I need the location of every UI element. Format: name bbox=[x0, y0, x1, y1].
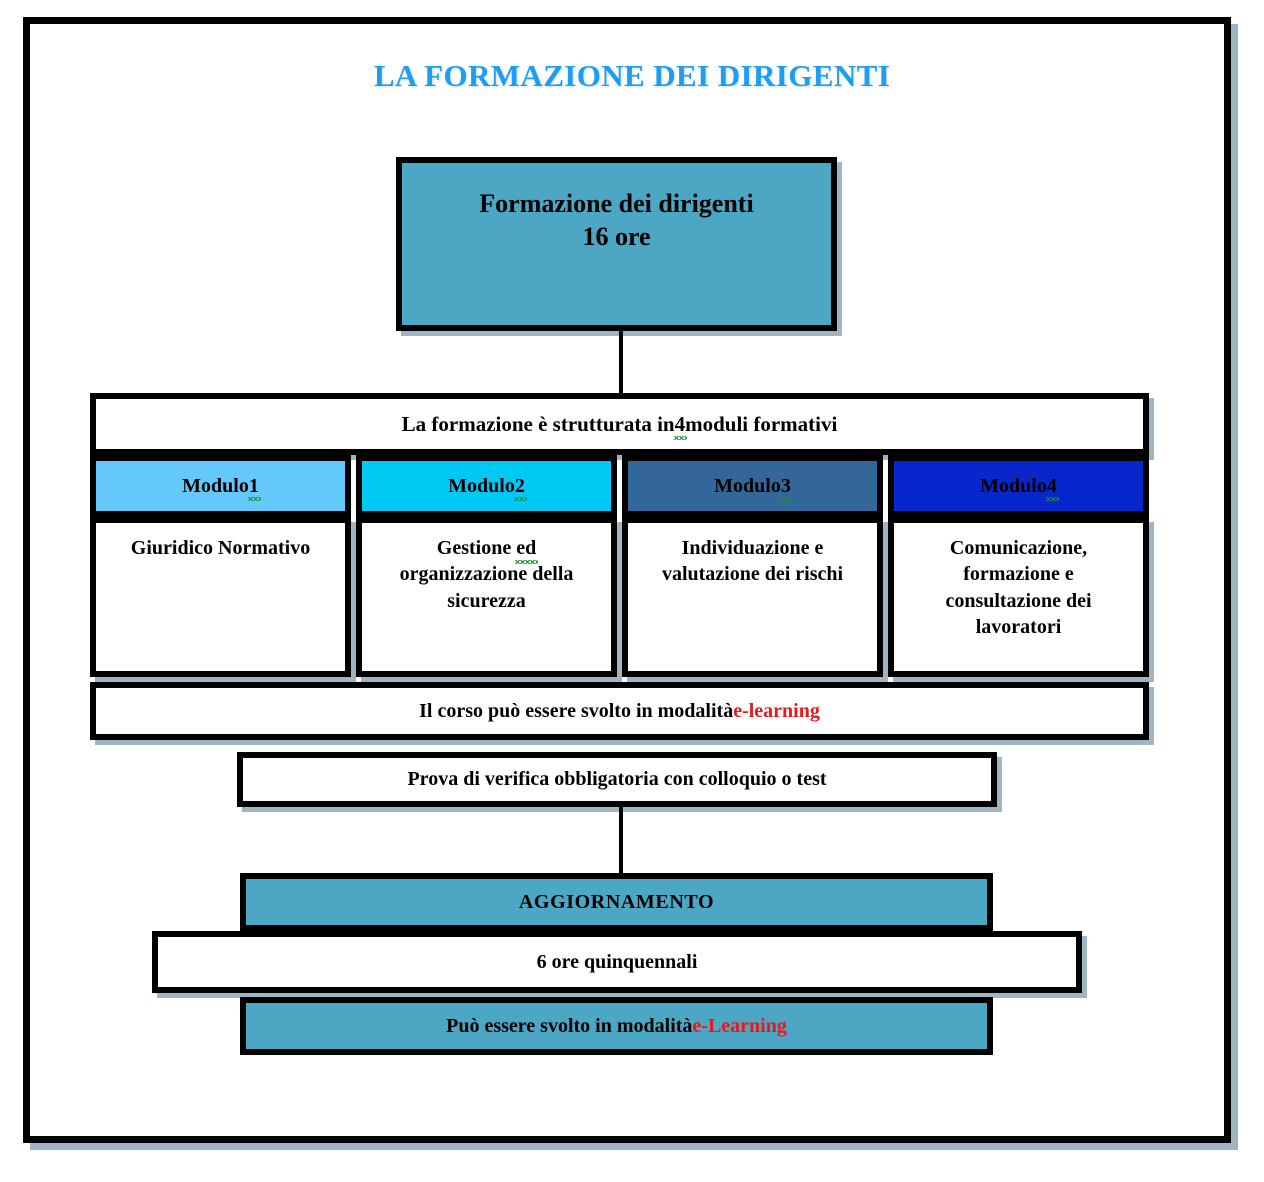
module-body-text-4: Comunicazione, formazione e consultazion… bbox=[904, 535, 1133, 641]
module-header-label-1: Modulo bbox=[182, 475, 249, 498]
module-body-text-2: Gestione ed organizzazione della sicurez… bbox=[372, 535, 601, 614]
prova-verifica-text: Prova di verifica obbligatoria con collo… bbox=[407, 768, 826, 791]
connector-prova-to-aggiornamento bbox=[619, 805, 623, 873]
module-header-4[interactable]: Modulo 4 bbox=[888, 455, 1149, 517]
modalita-elearning-text: Può essere svolto in modalità bbox=[446, 1015, 692, 1038]
elearning-bar: Il corso può essere svolto in modalità e… bbox=[90, 682, 1149, 740]
structure-text-before: La formazione è strutturata in bbox=[402, 412, 675, 437]
diagram-canvas: LA FORMAZIONE DEI DIRIGENTI Formazione d… bbox=[0, 0, 1264, 1182]
structure-text-after: moduli formativi bbox=[685, 412, 837, 437]
ore-quinquennali-box: 6 ore quinquennali bbox=[152, 931, 1082, 993]
structure-bar: La formazione è strutturata in 4 moduli … bbox=[90, 393, 1149, 455]
module-header-label-2: Modulo bbox=[448, 475, 515, 498]
module-body-text-2-after: organizzazione della sicurezza bbox=[400, 563, 574, 611]
elearning-bar-text: Il corso può essere svolto in modalità bbox=[419, 700, 733, 723]
page-title: LA FORMAZIONE DEI DIRIGENTI bbox=[0, 58, 1264, 94]
module-body-2: Gestione ed organizzazione della sicurez… bbox=[356, 517, 617, 677]
module-body-text-2-before: Gestione bbox=[437, 537, 516, 559]
module-header-1[interactable]: Modulo 1 bbox=[90, 455, 351, 517]
modalita-elearning-highlight: e-Learning bbox=[692, 1015, 786, 1038]
module-body-4: Comunicazione, formazione e consultazion… bbox=[888, 517, 1149, 677]
aggiornamento-box: AGGIORNAMENTO bbox=[240, 873, 993, 931]
module-header-number-4: 4 bbox=[1047, 475, 1057, 498]
ore-quinquennali-text: 6 ore quinquennali bbox=[537, 951, 698, 974]
elearning-bar-highlight: e-learning bbox=[733, 700, 820, 723]
module-header-2[interactable]: Modulo 2 bbox=[356, 455, 617, 517]
module-header-3[interactable]: Modulo 3 bbox=[622, 455, 883, 517]
module-header-label-4: Modulo bbox=[980, 475, 1047, 498]
structure-module-count: 4 bbox=[675, 412, 686, 437]
module-body-text-3: Individuazione e valutazione dei rischi bbox=[638, 535, 867, 588]
prova-verifica-box: Prova di verifica obbligatoria con collo… bbox=[237, 752, 997, 807]
module-body-text-1: Giuridico Normativo bbox=[131, 535, 310, 561]
hero-line-2: 16 ore bbox=[402, 220, 831, 253]
modules-section: La formazione è strutturata in 4 moduli … bbox=[90, 393, 1149, 751]
hero-box-formazione-dirigenti: Formazione dei dirigenti 16 ore bbox=[396, 157, 837, 331]
module-header-number-1: 1 bbox=[249, 475, 259, 498]
module-header-label-3: Modulo bbox=[714, 475, 781, 498]
module-header-number-3: 3 bbox=[781, 475, 791, 498]
aggiornamento-title: AGGIORNAMENTO bbox=[519, 891, 714, 914]
module-body-3: Individuazione e valutazione dei rischi bbox=[622, 517, 883, 677]
hero-line-1: Formazione dei dirigenti bbox=[402, 187, 831, 220]
module-body-text-2-squiggle: ed bbox=[516, 535, 536, 561]
module-body-row: Giuridico Normativo Gestione ed organizz… bbox=[90, 517, 1149, 677]
connector-hero-to-modules bbox=[619, 331, 623, 393]
module-header-row: Modulo 1 Modulo 2 Modulo 3 Modulo 4 bbox=[90, 455, 1149, 517]
module-body-1: Giuridico Normativo bbox=[90, 517, 351, 677]
module-header-number-2: 2 bbox=[515, 475, 525, 498]
modalita-elearning-box: Può essere svolto in modalità e-Learning bbox=[240, 997, 993, 1055]
